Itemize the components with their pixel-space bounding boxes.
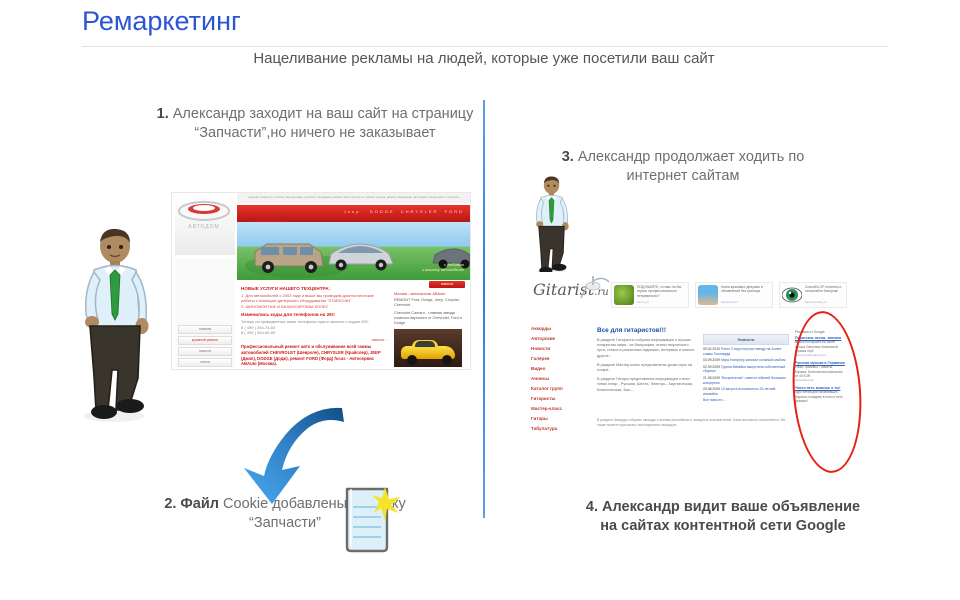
car-site-body-3: Теперь на приведенные ниже телефоны нужн…	[241, 319, 388, 324]
car-site-topnav: главная | новости | статьи | автодилеры …	[237, 193, 470, 203]
step-1-text: Александр заходит на ваш сайт на страниц…	[169, 106, 474, 141]
car-site-logo: АВТОДОМ	[175, 195, 235, 255]
title-divider-rule	[82, 46, 888, 47]
guitar-nav-item[interactable]: Мастер-класс	[531, 404, 591, 414]
eye-icon	[782, 285, 802, 305]
guitar-news-item[interactable]: 02.09.2009 Группа Metallica выпустила со…	[703, 365, 789, 374]
car-site-brand-list: Jeep DODGE CHRYSLER FORD	[344, 209, 464, 214]
slide-remarketing: Ремаркетинг Нацеливание рекламы на людей…	[0, 0, 960, 600]
vertical-divider	[483, 100, 485, 518]
car-site-photo-caption: Chevrolet Camaro - главная звезда главно…	[394, 311, 468, 326]
guitar-nav-item[interactable]: Гитаристы	[531, 394, 591, 404]
banner-text: ПОДУМАЙТЕ, готовы ли Вы играть профессио…	[637, 285, 686, 298]
guitar-site-banner-ad[interactable]: Спасибо GP понятны и посчитайте бисером!…	[779, 282, 847, 308]
news-date: 03.09.2009	[703, 358, 720, 362]
step-4-text: 4. Александр видит ваше объявление на са…	[586, 499, 860, 534]
car-site-main-content: НОВЫЕ УСЛУГИ НАШЕГО ТЕХЦЕНТРА: 1. Для ав…	[237, 283, 392, 367]
news-date: 21.08.2009	[703, 376, 720, 380]
car-site-menu-item[interactable]: кузовной ремонт	[178, 336, 232, 345]
guitar-nav-item[interactable]: Анонсы	[531, 374, 591, 384]
banner-link[interactable]: forum.remont_ru	[805, 300, 827, 304]
step-2-number: 2. Файл	[164, 496, 219, 512]
guitar-site-banner-ad[interactable]: ПОДУМАЙТЕ, готовы ли Вы играть профессио…	[611, 282, 689, 308]
car-site-news-button[interactable]: новости	[429, 281, 465, 288]
step-3-caption: 3. Александр продолжает ходить по интерн…	[533, 148, 833, 186]
car-site-sidebar[interactable]: главная кузовной ремонт новости статьи а…	[175, 259, 235, 367]
car-site-right-caption-2: REMONT Ford, Dodge, Jeep, Chrysler, Chev…	[394, 298, 468, 308]
guitar-nav-item[interactable]: Гитары	[531, 414, 591, 424]
banner-text: Спасибо GP понятны и посчитайте бисером!	[805, 285, 844, 294]
guitar-news-item[interactable]: 20.08.2009 13 августа исполнилось 25-лет…	[703, 387, 789, 396]
car-site-body-1: 1. Для автомобилей с 2003 года и выше мы…	[241, 293, 388, 304]
guitar-news-more-link[interactable]: Все новости ...	[703, 398, 789, 403]
guitar-site-body-2: В разделе Мастер-класс представлены урок…	[597, 363, 697, 373]
news-text[interactable]: Марк Нопфлер записал сольный альбом	[721, 358, 786, 362]
guitar-site-body-3: В разделе Гитары представлена информация…	[597, 377, 697, 393]
car-site-hero-banner: с любовьюк вашему автомобилю	[237, 222, 470, 280]
step-3-text: Александр продолжает ходить по интернет …	[574, 149, 805, 184]
car-site-heading-1: НОВЫЕ УСЛУГИ НАШЕГО ТЕХЦЕНТРА:	[241, 286, 388, 292]
car-site-body-4: Для выполнения Вашего автомобиля как на …	[241, 369, 388, 370]
cookie-file-icon	[341, 483, 403, 560]
car-site-header-bar: ABAuto.ru Jeep DODGE CHRYSLER FORD	[237, 205, 470, 222]
guitar-site-main-content: Все для гитаристов!!! В разделе Гитарист…	[597, 327, 697, 393]
guitar-nav-item[interactable]: Авторские	[531, 334, 591, 344]
guitar-site-banner-ad[interactable]: Книга красивых девушек и объявлений без …	[695, 282, 773, 308]
step-3-number: 3.	[562, 149, 574, 165]
car-site-menu-item[interactable]: автомагазин 200+	[178, 369, 232, 370]
guitar-site-news-block: Новости 09.02.2010 Ринго Старр получил з…	[703, 334, 789, 403]
banner-text: Книга красивых девушек и объявлений без …	[721, 285, 770, 294]
car-site-heading-2: Изменились коды для телефонов на 26!!	[241, 312, 388, 318]
car-site-right-caption: Москва - автосалоны ABAuto	[394, 292, 468, 297]
step-1-number: 1.	[157, 106, 169, 122]
guitar-nav-item[interactable]: Видео	[531, 364, 591, 374]
guitar-nav-item[interactable]: Каталог групп	[531, 384, 591, 394]
guitar-news-item[interactable]: 21.08.2009 "Воскресение" отметит юбилей …	[703, 376, 789, 385]
guitar-news-item[interactable]: 09.02.2010 Ринго Старр получил звезду на…	[703, 347, 789, 356]
guitar-site-news-header: Новости	[703, 334, 789, 345]
guitar-nav-item[interactable]: Табулатура	[531, 424, 591, 434]
car-site-body-2: 2. ШИНОМОНТАЖ И БАЛАНСИРОВКА КОЛЕС	[241, 304, 388, 309]
guitar-nav-item[interactable]: Аккорды	[531, 324, 591, 334]
car-site-menu-item[interactable]: статьи	[178, 358, 232, 367]
car-site-photo	[394, 329, 462, 367]
banner-image	[614, 285, 634, 305]
banner-image	[698, 285, 718, 305]
news-date: 20.08.2009	[703, 387, 720, 391]
car-site-menu-item[interactable]: новости	[178, 347, 232, 356]
step-1-caption: 1. Александр заходит на ваш сайт на стра…	[155, 105, 475, 143]
news-date: 02.09.2009	[703, 365, 720, 369]
guitar-nav-item[interactable]: Галерея	[531, 354, 591, 364]
svg-text:АВТОДОМ: АВТОДОМ	[188, 224, 219, 230]
guitar-site-body-1: В разделе Гитаристы собрана информация о…	[597, 338, 697, 359]
car-website-screenshot[interactable]: главная | новости | статьи | автодилеры …	[171, 192, 471, 370]
businessman-illustration-small	[524, 176, 578, 276]
car-site-heading-3: Профессиональный ремонт авто и обслужива…	[241, 344, 388, 366]
car-site-archive-link[interactable]: новости ...	[241, 338, 388, 342]
guitar-news-item[interactable]: 03.09.2009 Марк Нопфлер записал сольный …	[703, 358, 789, 363]
car-site-hero-text: с любовьюк вашему автомобилю	[422, 262, 464, 272]
page-subtitle: Нацеливание рекламы на людей, которые уж…	[80, 50, 888, 67]
guitar-site-main-title: Все для гитаристов!!!	[597, 327, 697, 334]
guitar-site-footer-text: В разделе Аккорды собраны аккорды к песн…	[597, 418, 789, 427]
car-site-menu-item[interactable]: главная	[178, 325, 232, 334]
step-4-caption: 4. Александр видит ваше объявление на са…	[578, 498, 868, 536]
car-site-phone-2: 8 ( 499 ) 264-66-69	[241, 330, 388, 335]
guitar-site-sidebar-nav[interactable]: Аккорды Авторские Новости Галерея Видео …	[531, 324, 591, 434]
page-title: Ремаркетинг	[82, 6, 241, 37]
guitar-nav-item[interactable]: Новости	[531, 344, 591, 354]
guitar-logo-graphic	[575, 274, 615, 304]
news-date: 09.02.2010	[703, 347, 720, 351]
car-site-right-column: новости Москва - автосалоны ABAuto REMON…	[394, 283, 468, 367]
banner-link[interactable]: forum_ru	[637, 300, 649, 304]
banner-link[interactable]: fotoona.com	[721, 300, 738, 304]
businessman-illustration	[68, 228, 160, 423]
